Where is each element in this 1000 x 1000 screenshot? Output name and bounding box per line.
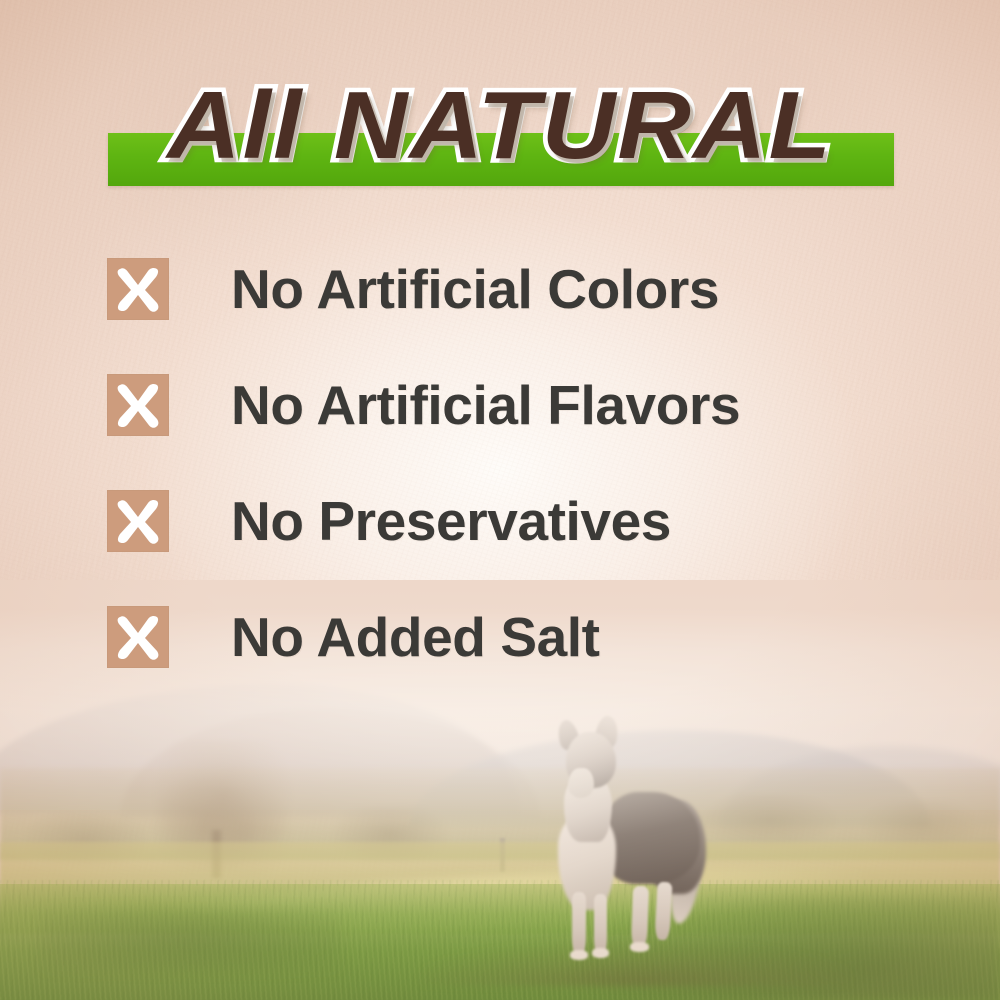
dog-front-leg-right <box>594 894 607 956</box>
grass-shadow-left <box>40 908 340 972</box>
dog-back-leg-right <box>654 882 672 941</box>
dog-paw-front-right <box>592 948 609 958</box>
all-natural-poster: All NATURAL No Artificial Colors No Arti… <box>0 0 1000 1000</box>
list-item: No Artificial Flavors <box>107 374 907 436</box>
list-item: No Preservatives <box>107 490 907 552</box>
dog-photo-subject <box>528 714 714 958</box>
list-item: No Artificial Colors <box>107 258 907 320</box>
dog-front-leg-left <box>572 892 586 956</box>
claims-list: No Artificial Colors No Artificial Flavo… <box>107 258 907 722</box>
shrub-far-right <box>860 800 980 848</box>
list-item-label: No Preservatives <box>231 490 671 552</box>
dog-paw-front-left <box>570 950 588 960</box>
x-mark-icon <box>107 490 169 552</box>
dog-back-leg-left <box>631 886 649 949</box>
dog-paw-back <box>630 942 649 952</box>
dog-muzzle <box>568 768 594 798</box>
x-mark-icon <box>107 258 169 320</box>
x-mark-icon <box>107 374 169 436</box>
list-item-label: No Artificial Colors <box>231 258 719 320</box>
headline-block: All NATURAL <box>0 74 1000 194</box>
list-item: No Added Salt <box>107 606 907 668</box>
list-item-label: No Added Salt <box>231 606 600 668</box>
page-title: All NATURAL <box>0 74 1000 178</box>
x-mark-icon <box>107 606 169 668</box>
list-item-label: No Artificial Flavors <box>231 374 740 436</box>
shrub-right <box>700 794 840 846</box>
